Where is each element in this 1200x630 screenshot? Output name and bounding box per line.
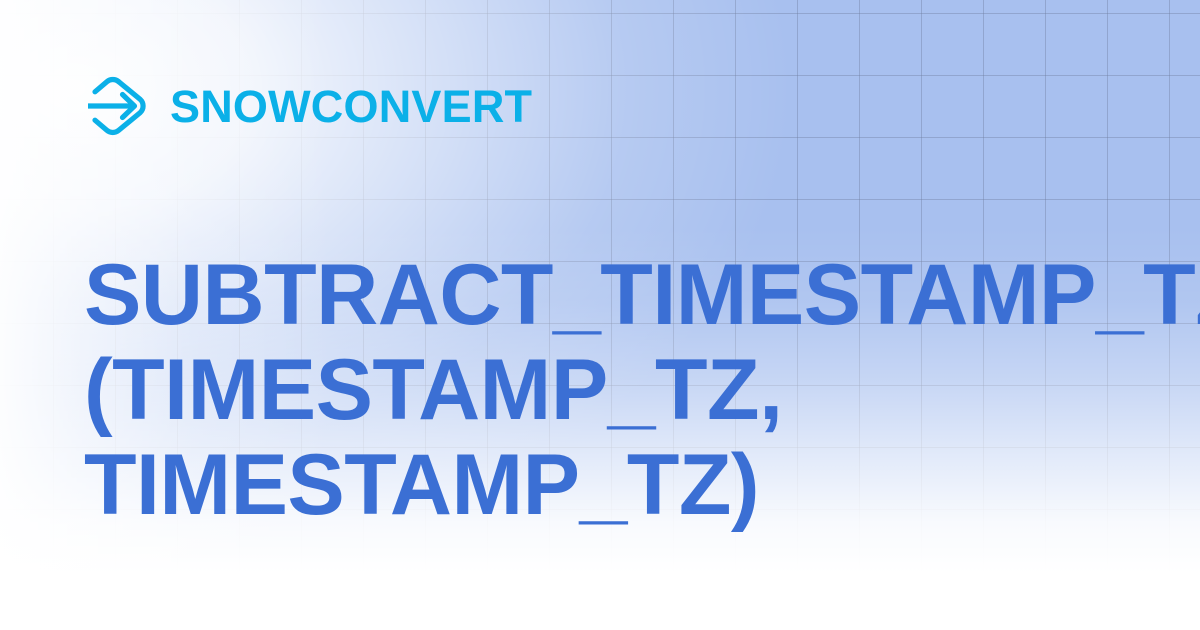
brand-wordmark: SNOWCONVERT: [170, 84, 532, 129]
card-content: SNOWCONVERT SUBTRACT_TIMESTAMP_TZ (TIMES…: [0, 0, 1200, 630]
snowconvert-arrow-diamond-icon: [88, 75, 156, 137]
page-title: SUBTRACT_TIMESTAMP_TZ (TIMESTAMP_TZ, TIM…: [84, 248, 1200, 533]
social-card: SNOWCONVERT SUBTRACT_TIMESTAMP_TZ (TIMES…: [0, 0, 1200, 630]
brand-logo: SNOWCONVERT: [88, 74, 532, 138]
